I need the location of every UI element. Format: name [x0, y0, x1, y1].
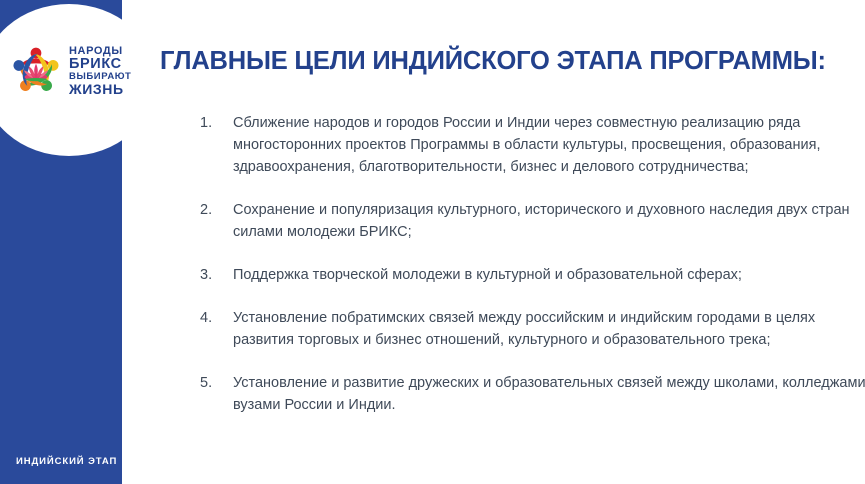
list-item-text: Поддержка творческой молодежи в культурн… [233, 264, 865, 286]
list-item-number: 4. [200, 307, 233, 329]
slide-title: ГЛАВНЫЕ ЦЕЛИ ИНДИЙСКОГО ЭТАПА ПРОГРАММЫ: [160, 47, 855, 75]
list-item: 5. Установление и развитие дружеских и о… [200, 372, 865, 416]
list-item: 2. Сохранение и популяризация культурног… [200, 199, 865, 243]
list-item-number: 5. [200, 372, 233, 394]
list-item: 3. Поддержка творческой молодежи в культ… [200, 264, 865, 286]
brics-people-circle-lotus-emblem [6, 41, 66, 101]
list-item-text: Сближение народов и городов России и Инд… [233, 112, 865, 178]
stage-badge: ИНДИЙСКИЙ ЭТАП [16, 456, 117, 467]
list-item-text: Сохранение и популяризация культурного, … [233, 199, 865, 243]
logo-line-zhizn: ЖИЗНЬ [69, 82, 131, 96]
list-item-number: 3. [200, 264, 233, 286]
logo-line-briks: БРИКС [69, 57, 131, 72]
brics-logo: НАРОДЫ БРИКС ВЫБИРАЮТ ЖИЗНЬ [6, 38, 130, 104]
list-item: 4. Установление побратимских связей межд… [200, 307, 865, 351]
brics-logo-text: НАРОДЫ БРИКС ВЫБИРАЮТ ЖИЗНЬ [69, 46, 131, 96]
list-item-number: 2. [200, 199, 233, 221]
presentation-slide: НАРОДЫ БРИКС ВЫБИРАЮТ ЖИЗНЬ ИНДИЙСКИЙ ЭТ… [0, 0, 865, 484]
goals-list: 1. Сближение народов и городов России и … [160, 112, 865, 416]
list-item: 1. Сближение народов и городов России и … [200, 112, 865, 178]
list-item-number: 1. [200, 112, 233, 134]
list-item-text: Установление и развитие дружеских и обра… [233, 372, 865, 416]
list-item-text: Установление побратимских связей между р… [233, 307, 865, 351]
